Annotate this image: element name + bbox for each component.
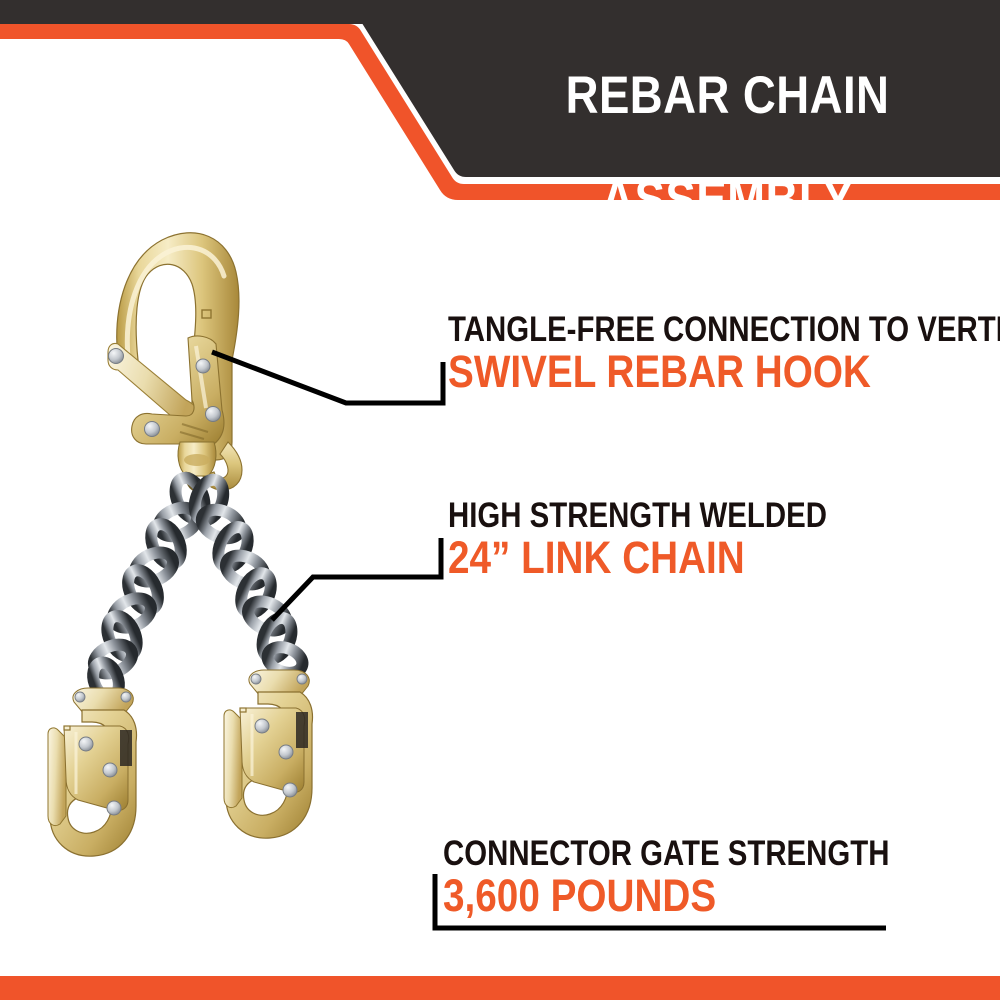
rivet-right-upper xyxy=(255,719,269,733)
swivel-collar xyxy=(184,454,210,466)
rivet-keeper-left xyxy=(145,422,160,437)
right-hook-latch-plate xyxy=(240,708,305,793)
rivet-right-clevis-a xyxy=(251,674,261,684)
callout-3-line-1: CONNECTOR GATE STRENGTH xyxy=(443,836,889,871)
callout-2-line-2: 24” LINK CHAIN xyxy=(448,535,836,580)
right-hook-gate xyxy=(224,710,242,808)
rivet-left-upper xyxy=(79,737,93,751)
right-snap-hook xyxy=(224,670,313,838)
callout-1-line-2: SWIVEL REBAR HOOK xyxy=(448,349,1000,394)
left-hook-gate-slot xyxy=(120,730,132,766)
left-hook-latch-plate xyxy=(64,726,129,811)
callout-link-chain: HIGH STRENGTH WELDED 24” LINK CHAIN xyxy=(448,498,899,580)
rivet-left-clevis-a xyxy=(75,692,85,702)
infographic-page: REBAR CHAIN ASSEMBLY xyxy=(0,0,1000,1000)
callout-2-line-1: HIGH STRENGTH WELDED xyxy=(448,498,827,533)
welded-link-chain xyxy=(89,474,306,701)
header-banner xyxy=(0,0,1000,200)
callout-3-line-2: 3,600 POUNDS xyxy=(443,873,900,918)
rivet-right-mid xyxy=(279,745,293,759)
chain-link xyxy=(235,568,276,617)
chain-link xyxy=(145,519,186,568)
rivet-left-mid xyxy=(103,763,117,777)
rivet-keeper-upper xyxy=(196,359,210,373)
swivel-rebar-hook xyxy=(108,233,242,490)
footer-accent-bar xyxy=(0,976,1000,1000)
rivet-keeper-lower xyxy=(206,407,221,422)
chain-link xyxy=(122,565,164,614)
left-snap-hook xyxy=(48,688,137,856)
callout-gate-strength: CONNECTOR GATE STRENGTH 3,600 POUNDS xyxy=(443,836,975,918)
rivet-right-clevis-b xyxy=(297,674,307,684)
header-top-band xyxy=(0,0,1000,24)
rivet-left-clevis-b xyxy=(121,692,131,702)
callout-1-line-1: TANGLE-FREE CONNECTION TO VERTICAL xyxy=(448,312,1000,347)
chain-link xyxy=(213,523,254,572)
product-illustration xyxy=(0,210,430,890)
rivet-left-lower xyxy=(107,801,121,815)
callout-swivel-rebar-hook: TANGLE-FREE CONNECTION TO VERTICAL SWIVE… xyxy=(448,312,1000,394)
right-hook-gate-slot xyxy=(296,712,308,748)
rivet-gate-pivot xyxy=(109,349,124,364)
left-hook-gate xyxy=(48,728,66,826)
rivet-right-lower xyxy=(283,783,297,797)
